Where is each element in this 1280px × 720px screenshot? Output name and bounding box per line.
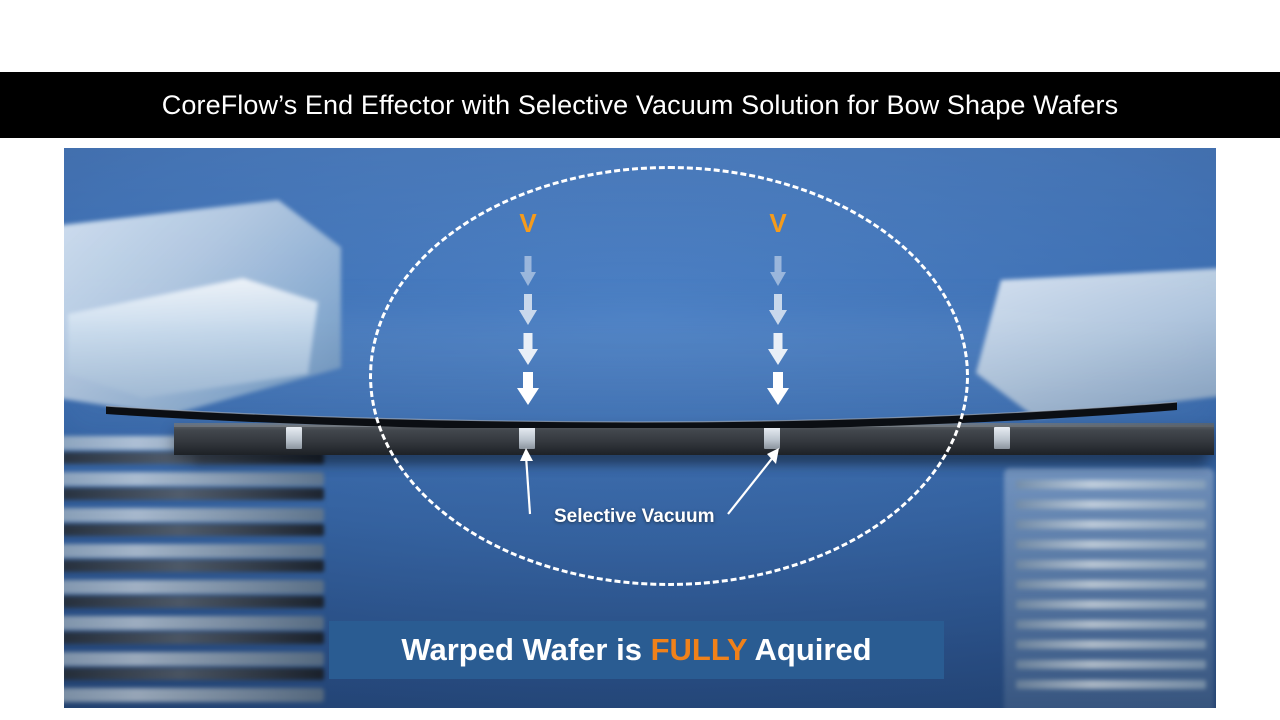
caption-text: Warped Wafer is FULLY Aquired <box>401 632 871 668</box>
vacuum-marker-2-label: V <box>758 210 798 236</box>
caption-highlight: FULLY <box>651 632 747 667</box>
page-title: CoreFlow’s End Effector with Selective V… <box>162 90 1118 121</box>
vacuum-marker-2: V <box>758 210 798 411</box>
caption-banner: Warped Wafer is FULLY Aquired <box>329 621 944 679</box>
vacuum-port <box>286 427 302 449</box>
vacuum-arrows-2-icon <box>758 236 798 406</box>
illustration-figure: V <box>64 148 1216 708</box>
vacuum-arrows-1-icon <box>508 236 548 406</box>
vacuum-port <box>994 427 1010 449</box>
caption-prefix: Warped Wafer is <box>401 632 650 667</box>
vacuum-marker-1: V <box>508 210 548 411</box>
vacuum-marker-1-label: V <box>508 210 548 236</box>
selective-vacuum-label: Selective Vacuum <box>554 506 715 528</box>
slide-root: CoreFlow’s End Effector with Selective V… <box>0 0 1280 720</box>
title-bar: CoreFlow’s End Effector with Selective V… <box>0 72 1280 138</box>
caption-suffix: Aquired <box>747 632 872 667</box>
